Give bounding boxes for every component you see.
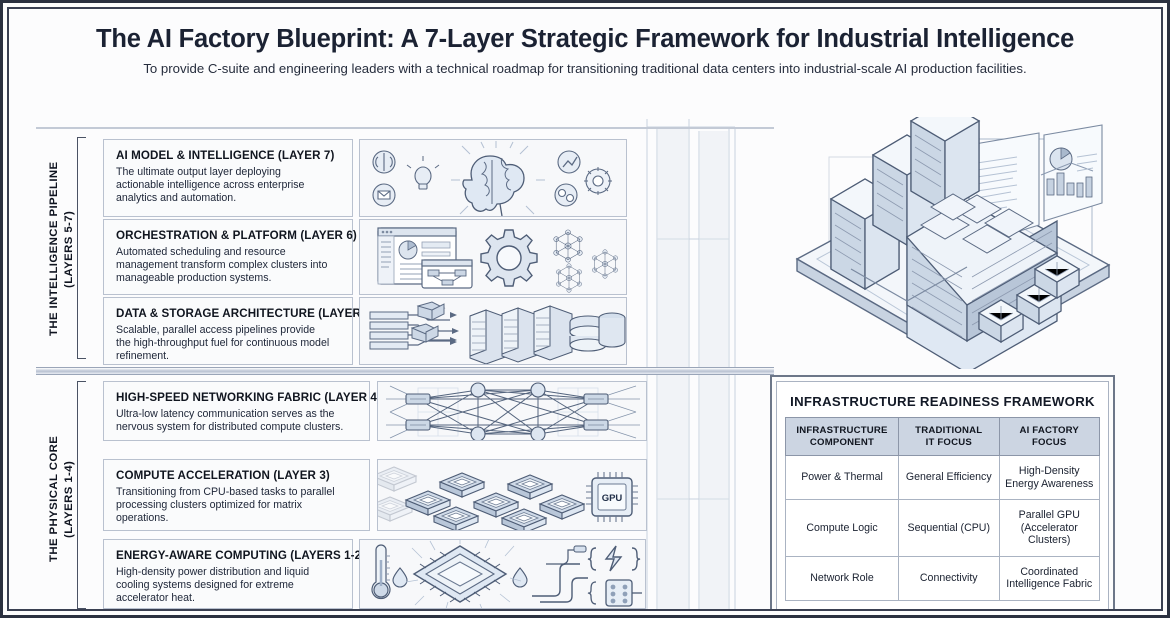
table-col-header-aifactory: AI FACTORY FOCUS	[999, 418, 1100, 456]
layer-6-title: ORCHESTRATION & PLATFORM (LAYER 6)	[116, 229, 340, 242]
layer-7-visual	[359, 139, 627, 217]
layer-4-visual	[377, 381, 647, 441]
thermometer-icon	[372, 545, 390, 598]
gear-icon	[481, 230, 537, 286]
layer-4-title: HIGH-SPEED NETWORKING FABRIC (LAYER 4)	[116, 391, 357, 404]
header: The AI Factory Blueprint: A 7-Layer Stra…	[9, 25, 1161, 76]
layer-5-text: DATA & STORAGE ARCHITECTURE (LAYER 5) Sc…	[103, 297, 353, 365]
infrastructure-readiness-table: INFRASTRUCTURE COMPONENT TRADITIONAL IT …	[785, 417, 1100, 601]
cell-component: Power & Thermal	[786, 456, 899, 500]
layer-row-7[interactable]: AI MODEL & INTELLIGENCE (LAYER 7) The ul…	[103, 139, 627, 217]
chip-ghost	[378, 467, 416, 521]
liquid-cooling-pipe-icon	[532, 546, 588, 602]
lightbulb-icon	[407, 156, 439, 189]
layer-1-2-desc: High-density power distribution and liqu…	[116, 566, 341, 606]
table-col-header-traditional: TRADITIONAL IT FOCUS	[899, 418, 999, 456]
col-line-1: INFRASTRUCTURE	[796, 425, 887, 436]
layer-7-text: AI MODEL & INTELLIGENCE (LAYER 7) The ul…	[103, 139, 353, 217]
layer-3-desc: Transitioning from CPU-based tasks to pa…	[116, 486, 346, 526]
cell-traditional: Connectivity	[899, 556, 999, 600]
layer-row-1-2[interactable]: ENERGY-AWARE COMPUTING (LAYERS 1-2) High…	[103, 539, 646, 609]
col-line-2: FOCUS	[1032, 437, 1067, 448]
layer-1-2-title: ENERGY-AWARE COMPUTING (LAYERS 1-2)	[116, 549, 340, 562]
database-cylinder-icon	[570, 313, 625, 351]
layer-1-2-visual	[359, 539, 646, 609]
gpu-chip-icon: GPU	[586, 472, 638, 522]
col-line-2: COMPONENT	[810, 437, 874, 448]
infrastructure-readiness-table-panel: INFRASTRUCTURE READINESS FRAMEWORK INFRA…	[770, 375, 1115, 611]
section-divider-rule	[36, 367, 774, 375]
layer-5-title: DATA & STORAGE ARCHITECTURE (LAYER 5)	[116, 307, 340, 320]
layer-7-desc: The ultimate output layer deploying acti…	[116, 166, 331, 206]
bracket-physical-core	[77, 381, 86, 609]
bracket-intelligence-pipeline	[77, 137, 86, 359]
table-title: INFRASTRUCTURE READINESS FRAMEWORK	[785, 388, 1100, 417]
table-header-row: INFRASTRUCTURE COMPONENT TRADITIONAL IT …	[786, 418, 1100, 456]
layer-3-title: COMPUTE ACCELERATION (LAYER 3)	[116, 469, 357, 482]
cell-aifactory: Coordinated Intelligence Fabric	[999, 556, 1100, 600]
brain-circle-icon	[373, 151, 395, 173]
processor-icon	[406, 540, 521, 609]
col-line-2: IT FOCUS	[926, 437, 972, 448]
power-bolt-icon	[588, 546, 640, 571]
infographic-inner-frame: The AI Factory Blueprint: A 7-Layer Stra…	[7, 7, 1163, 611]
layer-4-desc: Ultra-low latency communication serves a…	[116, 408, 361, 434]
isometric-data-center-illustration	[779, 117, 1124, 369]
cell-component: Network Role	[786, 556, 899, 600]
layer-6-desc: Automated scheduling and resource manage…	[116, 246, 331, 286]
layer-4-text: HIGH-SPEED NETWORKING FABRIC (LAYER 4) U…	[103, 381, 370, 441]
table-row: Compute Logic Sequential (CPU) Parallel …	[786, 500, 1100, 557]
page-title: The AI Factory Blueprint: A 7-Layer Stra…	[9, 25, 1161, 54]
cluster-node-icon	[554, 230, 618, 292]
cell-aifactory: High-Density Energy Awareness	[999, 456, 1100, 500]
cell-traditional: Sequential (CPU)	[899, 500, 999, 557]
layer-3-text: COMPUTE ACCELERATION (LAYER 3) Transitio…	[103, 459, 370, 531]
cell-traditional: General Efficiency	[899, 456, 999, 500]
section-label-physical-core: THE PHYSICAL CORE(LAYERS 1-4)	[47, 409, 77, 589]
power-distribution-icon	[588, 580, 642, 606]
section-top-rule	[36, 127, 774, 129]
layer-row-5[interactable]: DATA & STORAGE ARCHITECTURE (LAYER 5) Sc…	[103, 297, 627, 365]
data-pipeline-icon	[370, 302, 459, 349]
col-line-1: TRADITIONAL	[915, 425, 982, 436]
section-label-intelligence-pipeline: THE INTELLIGENCE PIPELINE(LAYERS 5-7)	[47, 149, 77, 349]
table-row: Power & Thermal General Efficiency High-…	[786, 456, 1100, 500]
brain-icon	[463, 156, 524, 216]
layer-6-visual	[359, 219, 627, 295]
layer-3-visual: GPU	[377, 459, 647, 531]
infographic-root: The AI Factory Blueprint: A 7-Layer Stra…	[0, 0, 1170, 618]
layer-row-6[interactable]: ORCHESTRATION & PLATFORM (LAYER 6) Autom…	[103, 219, 627, 295]
cell-component: Compute Logic	[786, 500, 899, 557]
chart-growth-icon	[558, 151, 580, 173]
server-rack-icon	[470, 306, 572, 364]
layer-5-desc: Scalable, parallel access pipelines prov…	[116, 324, 331, 364]
layer-6-text: ORCHESTRATION & PLATFORM (LAYER 6) Autom…	[103, 219, 353, 295]
chip-array-icon	[406, 473, 584, 531]
blueprint-structure-lines	[629, 119, 779, 611]
layer-5-visual	[359, 297, 627, 365]
gear-icon	[584, 167, 612, 195]
layer-row-3[interactable]: COMPUTE ACCELERATION (LAYER 3) Transitio…	[103, 459, 647, 531]
page-subtitle: To provide C-suite and engineering leade…	[9, 61, 1161, 76]
table-row: Network Role Connectivity Coordinated In…	[786, 556, 1100, 600]
layer-1-2-text: ENERGY-AWARE COMPUTING (LAYERS 1-2) High…	[103, 539, 353, 609]
col-line-1: AI FACTORY	[1019, 425, 1079, 436]
table-col-header-component: INFRASTRUCTURE COMPONENT	[786, 418, 899, 456]
robot-icon	[555, 184, 577, 206]
workflow-window-icon	[422, 260, 472, 288]
gpu-chip-label: GPU	[602, 493, 623, 504]
layer-7-title: AI MODEL & INTELLIGENCE (LAYER 7)	[116, 149, 340, 162]
cell-aifactory: Parallel GPU (Accelerator Clusters)	[999, 500, 1100, 557]
mail-icon	[373, 184, 395, 206]
table-inner-frame: INFRASTRUCTURE READINESS FRAMEWORK INFRA…	[776, 381, 1109, 611]
layer-row-4[interactable]: HIGH-SPEED NETWORKING FABRIC (LAYER 4) U…	[103, 381, 647, 441]
